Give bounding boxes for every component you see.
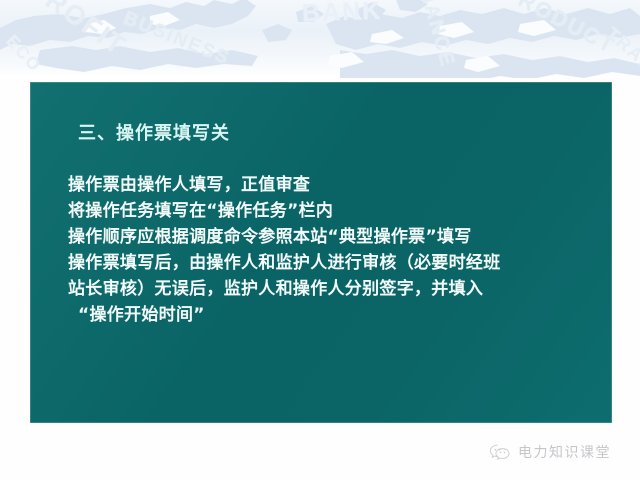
body-line: 操作顺序应根据调度命令参照本站“典型操作票”填写 [68, 224, 598, 250]
body-line: 将操作任务填写在“操作任务”栏内 [68, 198, 598, 224]
slide-canvas: PROFIT BUSINESS BANK FINANCE PRODUCT TRA… [0, 0, 640, 480]
content-panel: 三、操作票填写关 操作票由操作人填写，正值审查 将操作任务填写在“操作任务”栏内… [30, 82, 612, 423]
watermark-band: PROFIT BUSINESS BANK FINANCE PRODUCT TRA… [0, 0, 640, 78]
wechat-logo-icon [489, 443, 511, 462]
footer-logo-watermark: 电力知识课堂 [489, 442, 611, 462]
body-line: 操作票填写后，由操作人和监护人进行审核（必要时经班 [68, 250, 598, 276]
page-title: 三、操作票填写关 [78, 119, 230, 145]
body-line: “操作开始时间” [68, 302, 598, 328]
body-line: 操作票由操作人填写，正值审查 [68, 172, 598, 198]
footer-logo-label: 电力知识课堂 [518, 442, 611, 462]
body-text-block: 操作票由操作人填写，正值审查 将操作任务填写在“操作任务”栏内 操作顺序应根据调… [68, 172, 598, 328]
watermark-word: BANK [302, 0, 383, 28]
body-line: 站长审核）无误后，监护人和操作人分别签字，并填入 [68, 276, 598, 302]
